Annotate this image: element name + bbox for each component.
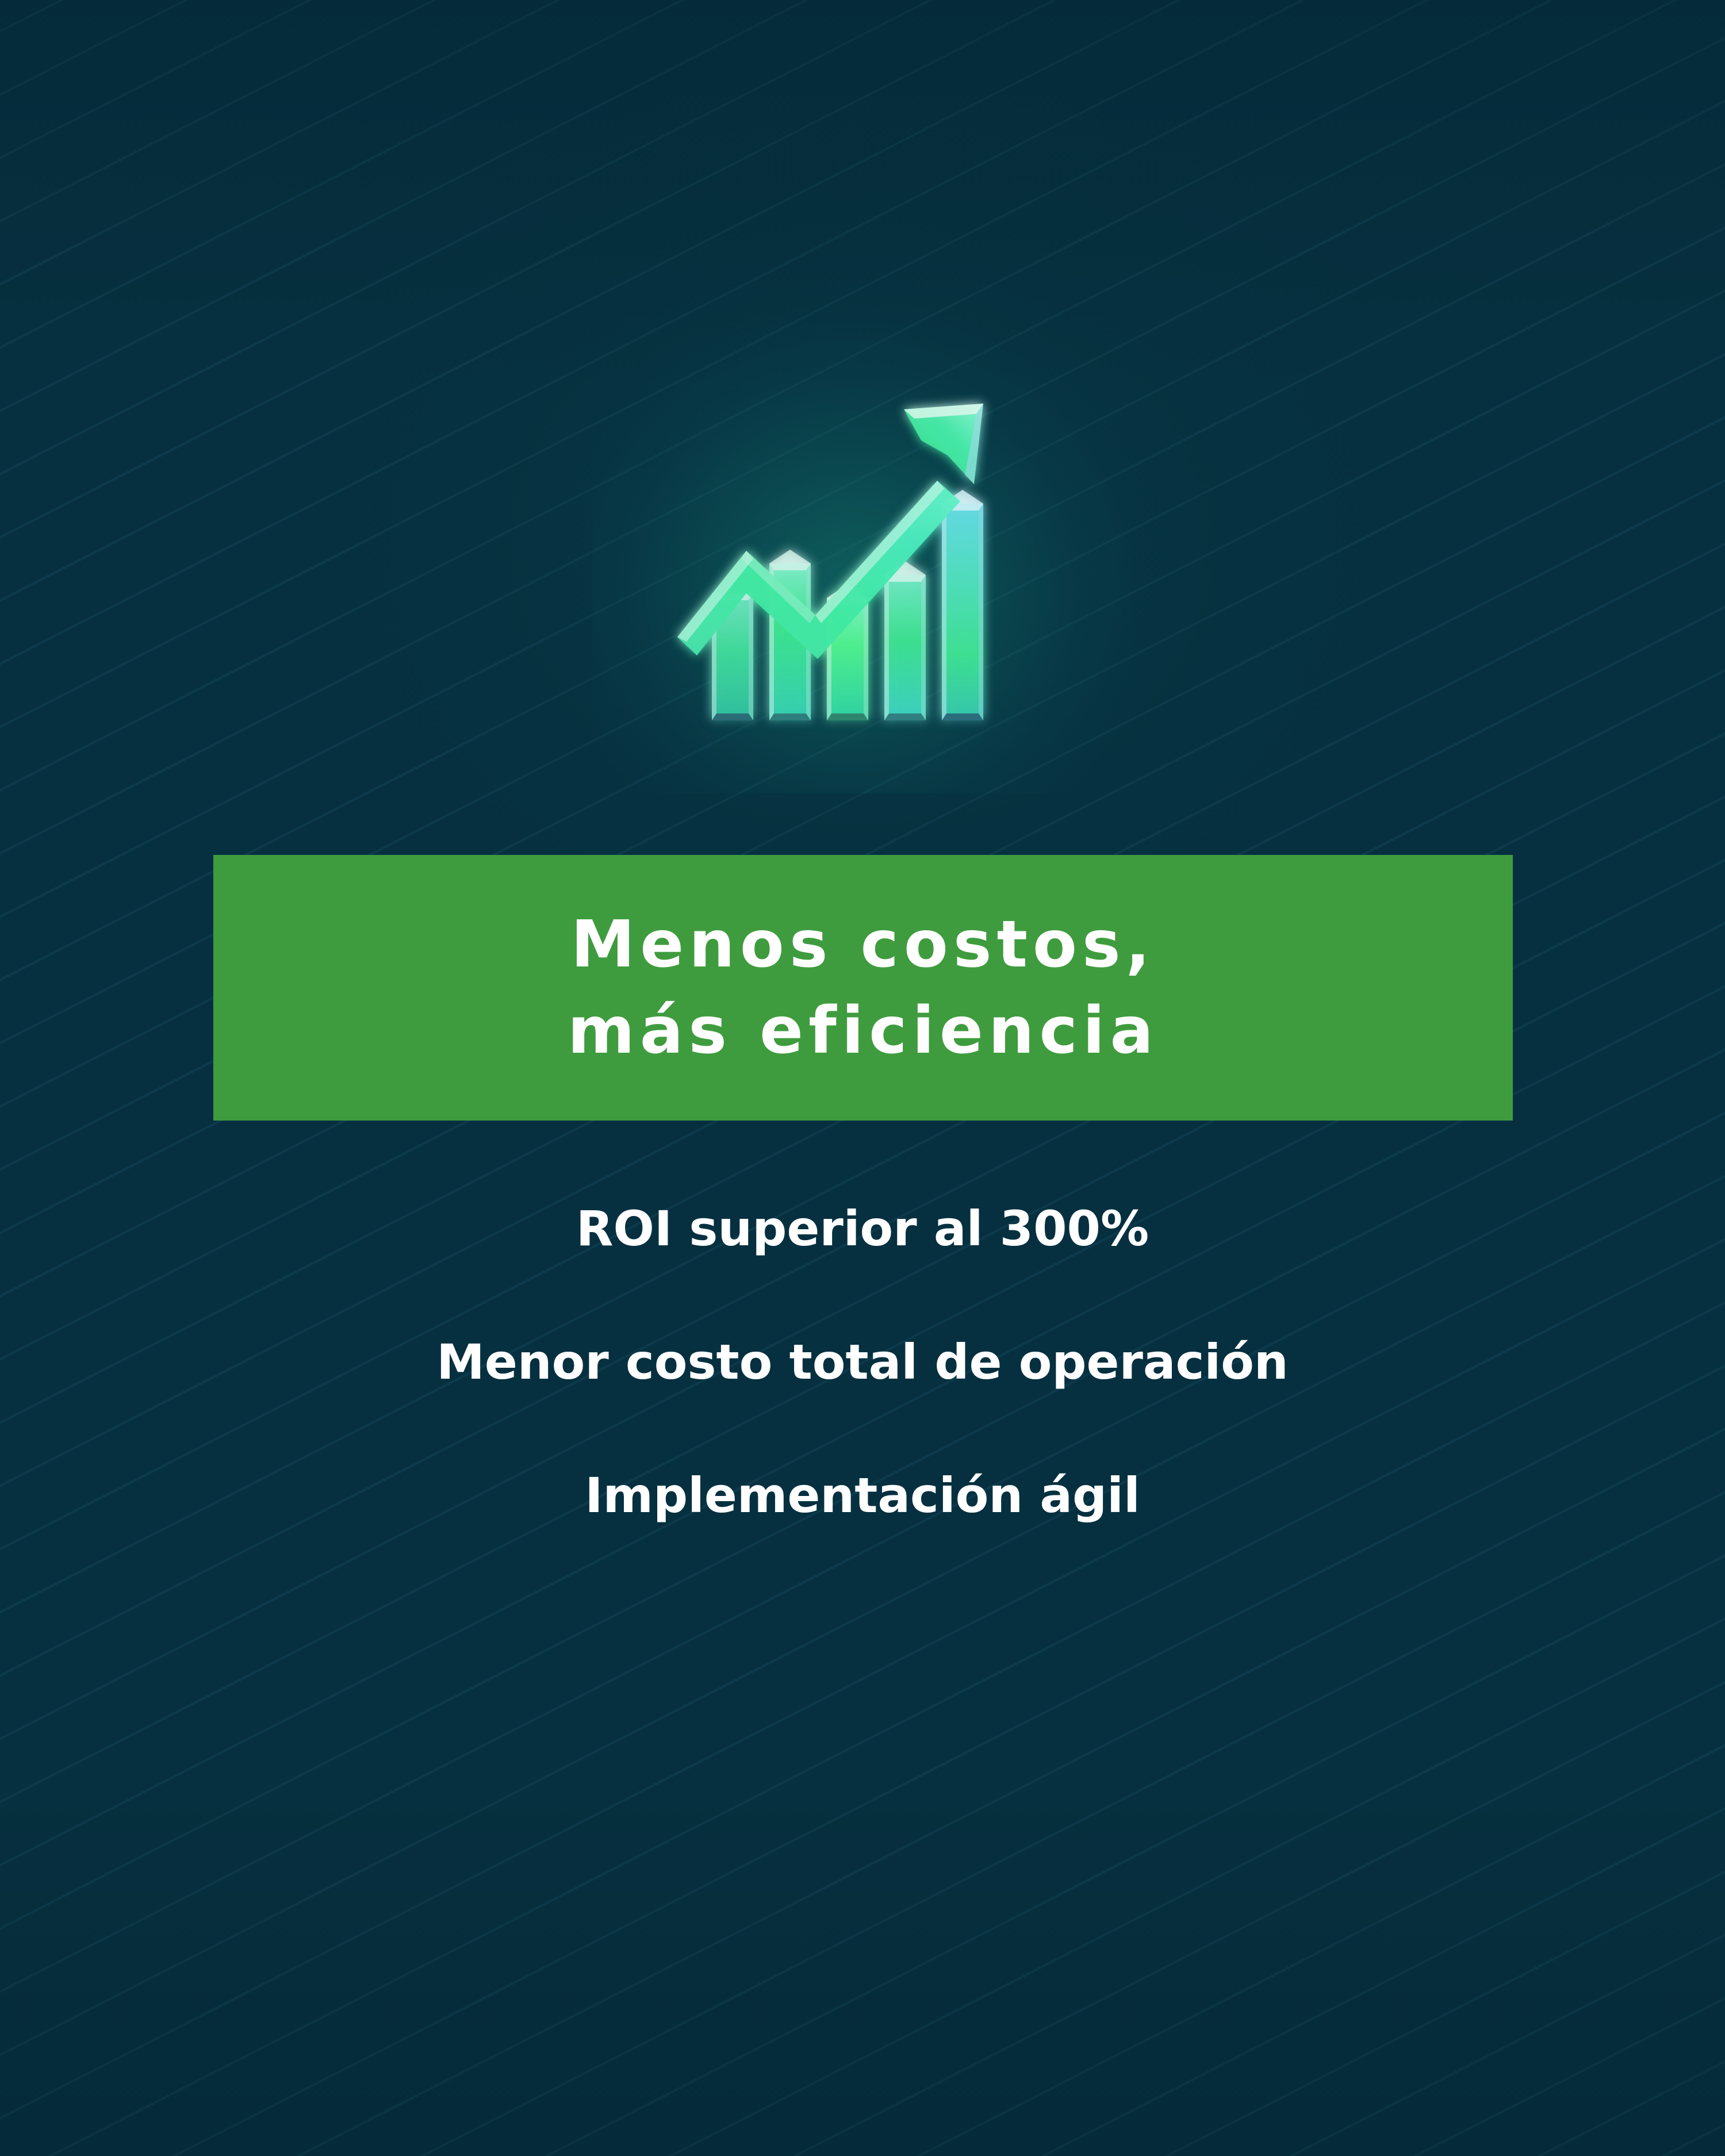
headline-line-1: Menos costos, <box>571 901 1155 988</box>
benefit-item-3: Implementación ágil <box>0 1471 1725 1520</box>
icon-arrow-head <box>904 404 983 484</box>
icon-bar-4 <box>884 561 926 720</box>
benefit-list: ROI superior al 300% Menor costo total d… <box>0 1204 1725 1520</box>
benefit-item-1: ROI superior al 300% <box>0 1204 1725 1253</box>
icon-bar-5 <box>942 490 983 720</box>
growth-bar-chart-arrow-svg <box>661 368 1064 742</box>
growth-bar-chart-arrow-icon <box>661 368 1064 742</box>
slide-canvas: Menos costos, más eficiencia ROI superio… <box>0 0 1725 2156</box>
benefit-item-2: Menor costo total de operación <box>0 1338 1725 1386</box>
headline-banner: Menos costos, más eficiencia <box>213 855 1513 1121</box>
headline-line-2: más eficiencia <box>568 988 1159 1074</box>
